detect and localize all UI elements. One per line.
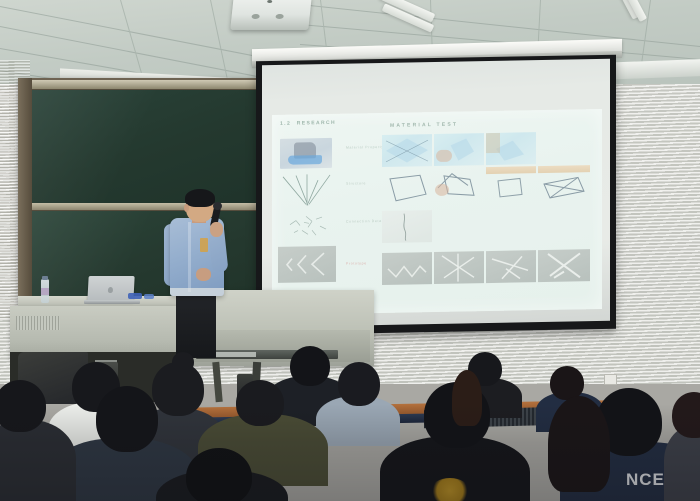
presenter-left-hand <box>196 268 211 281</box>
projector-icon <box>230 0 312 30</box>
slide-wing-render <box>486 250 536 283</box>
presenter-trousers <box>176 286 216 358</box>
slide-row-label-3: Prototype <box>346 261 367 265</box>
projected-slide: 1.2 RESEARCH MATERIAL TEST <box>272 109 602 315</box>
water-bottle <box>41 279 49 303</box>
slide-folded-frame-diagram <box>434 169 484 204</box>
slide-cross-render <box>538 249 590 282</box>
laptop-base[interactable] <box>84 300 140 304</box>
slide-heading: MATERIAL TEST <box>390 122 458 129</box>
slide-row-label-0: Material Property <box>346 145 384 150</box>
slide-tan-strip-frame <box>486 174 536 203</box>
foreground-shadow <box>0 404 700 501</box>
slide-joint-detail-photo <box>382 210 432 243</box>
presenter-badge <box>200 238 208 252</box>
slide-zigzag-render <box>382 252 432 285</box>
slide-rod-sketch <box>278 172 336 207</box>
slide-star-node-render <box>434 251 484 284</box>
microphone-head <box>213 202 222 210</box>
slide-crossed-frame-diagram <box>538 173 590 202</box>
slide-photo-blue-fabric-folded <box>434 133 484 166</box>
slide-section-label: 1.2 RESEARCH <box>280 120 336 127</box>
slide-row-label-2: Connection Detail <box>346 219 385 224</box>
chalkboard-top-rail <box>20 80 272 89</box>
chalkboard-upper-panel <box>26 89 270 209</box>
slide-scatter-sketch <box>282 210 334 241</box>
presenter-right-hand <box>210 222 223 237</box>
bottle-cap <box>42 276 48 280</box>
presenter-hair <box>185 189 215 207</box>
slide-photo-blue-fabric-stretched <box>382 134 432 167</box>
presenter-ear <box>184 204 189 212</box>
presenter-undershirt-hem <box>170 288 224 296</box>
cabinet-vent <box>16 316 60 330</box>
desk-blue-object <box>128 293 142 299</box>
projection-screen-surface[interactable]: 1.2 RESEARCH MATERIAL TEST <box>262 59 610 327</box>
lecture-hall-photo: 1.2 RESEARCH MATERIAL TEST <box>0 0 700 501</box>
wall-outlet-icon <box>604 374 617 385</box>
slide-row-label-1: Structure <box>346 181 366 185</box>
slide-chevron-render <box>278 246 336 283</box>
chalkboard-left-post <box>18 78 32 306</box>
slide-shoe-cover-photo <box>280 138 332 169</box>
desk-blue-object <box>144 294 154 299</box>
slide-tan-strip-b <box>538 165 590 173</box>
laptop-logo-icon <box>108 287 113 293</box>
slide-tan-strip-a <box>486 166 536 174</box>
slide-photo-blue-fabric-handheld <box>486 132 536 165</box>
slide-quad-frame-diagram <box>382 170 432 205</box>
